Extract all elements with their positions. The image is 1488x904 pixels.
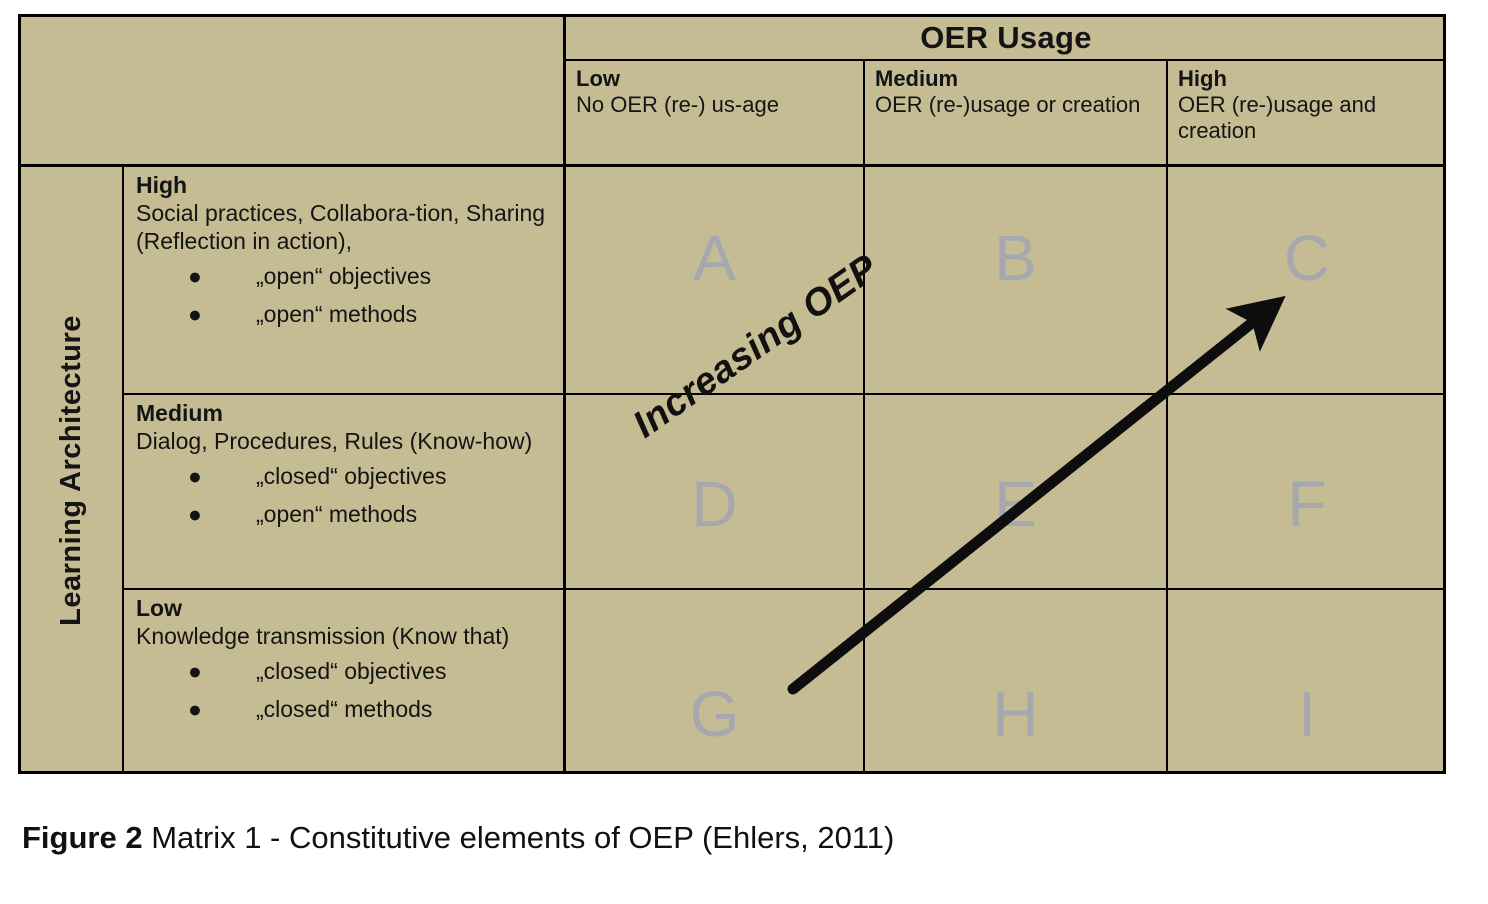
- list-item-label: „open“ methods: [256, 501, 417, 527]
- figure-caption: Figure 2 Matrix 1 - Constitutive element…: [22, 818, 894, 858]
- list-item-label: „open“ objectives: [256, 263, 431, 289]
- column-header-high-title: High: [1178, 66, 1438, 92]
- matrix-cell-i-label: I: [1298, 677, 1316, 751]
- matrix-cell-d: D: [566, 395, 865, 590]
- row-header-high: High Social practices, Collabora-tion, S…: [124, 167, 566, 395]
- matrix-cell-c: C: [1168, 167, 1446, 395]
- matrix-cell-e: E: [865, 395, 1168, 590]
- row-axis-strip: Learning Architecture: [21, 167, 124, 774]
- bullet-icon: ●: [188, 652, 202, 690]
- bullet-icon: ●: [188, 257, 202, 295]
- bullet-icon: ●: [188, 690, 202, 728]
- list-item: ● „open“ methods: [136, 295, 557, 333]
- row-header-low-title: Low: [136, 594, 557, 622]
- column-header-medium-desc: OER (re-)usage or creation: [875, 92, 1158, 118]
- matrix-cell-i: I: [1168, 590, 1446, 774]
- matrix-cell-b: B: [865, 167, 1168, 395]
- matrix-cell-f: F: [1168, 395, 1446, 590]
- matrix-cell-h: H: [865, 590, 1168, 774]
- matrix-cell-a-label: A: [693, 221, 736, 295]
- row-header-medium-desc: Dialog, Procedures, Rules (Know-how): [136, 427, 557, 455]
- bullet-icon: ●: [188, 495, 202, 533]
- list-item: ● „open“ methods: [136, 495, 557, 533]
- column-header-high: High OER (re-)usage and creation: [1168, 61, 1446, 167]
- list-item-label: „closed“ objectives: [256, 463, 446, 489]
- list-item: ● „closed“ objectives: [136, 457, 557, 495]
- row-header-high-desc: Social practices, Collabora-tion, Sharin…: [136, 199, 557, 255]
- list-item: ● „closed“ objectives: [136, 652, 557, 690]
- column-header-low-desc: No OER (re-) us-age: [576, 92, 855, 118]
- column-header-low-title: Low: [576, 66, 855, 92]
- column-header-medium-title: Medium: [875, 66, 1158, 92]
- column-header-high-desc: OER (re-)usage and creation: [1178, 92, 1438, 144]
- row-header-low: Low Knowledge transmission (Know that) ●…: [124, 590, 566, 774]
- list-item: ● „open“ objectives: [136, 257, 557, 295]
- row-axis-title: Learning Architecture: [55, 315, 88, 626]
- list-item-label: „closed“ methods: [256, 696, 432, 722]
- list-item-label: „open“ methods: [256, 301, 417, 327]
- matrix-cell-h-label: H: [992, 677, 1038, 751]
- matrix-cell-g-label: G: [690, 677, 740, 751]
- row-header-high-bullets: ● „open“ objectives ● „open“ methods: [136, 257, 557, 333]
- bullet-icon: ●: [188, 295, 202, 333]
- matrix-cell-g: G: [566, 590, 865, 774]
- figure-2-matrix: OER Usage Low No OER (re-) us-age Medium…: [0, 0, 1488, 904]
- bullet-icon: ●: [188, 457, 202, 495]
- list-item: ● „closed“ methods: [136, 690, 557, 728]
- matrix-cell-b-label: B: [994, 221, 1037, 295]
- figure-caption-label: Figure 2: [22, 820, 143, 855]
- row-header-low-desc: Knowledge transmission (Know that): [136, 622, 557, 650]
- row-header-medium-bullets: ● „closed“ objectives ● „open“ methods: [136, 457, 557, 533]
- matrix-cell-e-label: E: [994, 467, 1037, 541]
- matrix-cell-c-label: C: [1284, 221, 1330, 295]
- figure-caption-text: Matrix 1 - Constitutive elements of OEP …: [143, 820, 895, 855]
- list-item-label: „closed“ objectives: [256, 658, 446, 684]
- matrix-corner-cell: [21, 17, 566, 167]
- row-header-medium: Medium Dialog, Procedures, Rules (Know-h…: [124, 395, 566, 590]
- matrix-cell-d-label: D: [691, 467, 737, 541]
- column-header-low: Low No OER (re-) us-age: [566, 61, 865, 167]
- matrix-cell-f-label: F: [1287, 467, 1326, 541]
- row-header-high-title: High: [136, 171, 557, 199]
- oep-matrix-table: OER Usage Low No OER (re-) us-age Medium…: [18, 14, 1446, 774]
- row-header-low-bullets: ● „closed“ objectives ● „closed“ methods: [136, 652, 557, 728]
- column-header-medium: Medium OER (re-)usage or creation: [865, 61, 1168, 167]
- row-header-medium-title: Medium: [136, 399, 557, 427]
- column-axis-title: OER Usage: [566, 17, 1446, 61]
